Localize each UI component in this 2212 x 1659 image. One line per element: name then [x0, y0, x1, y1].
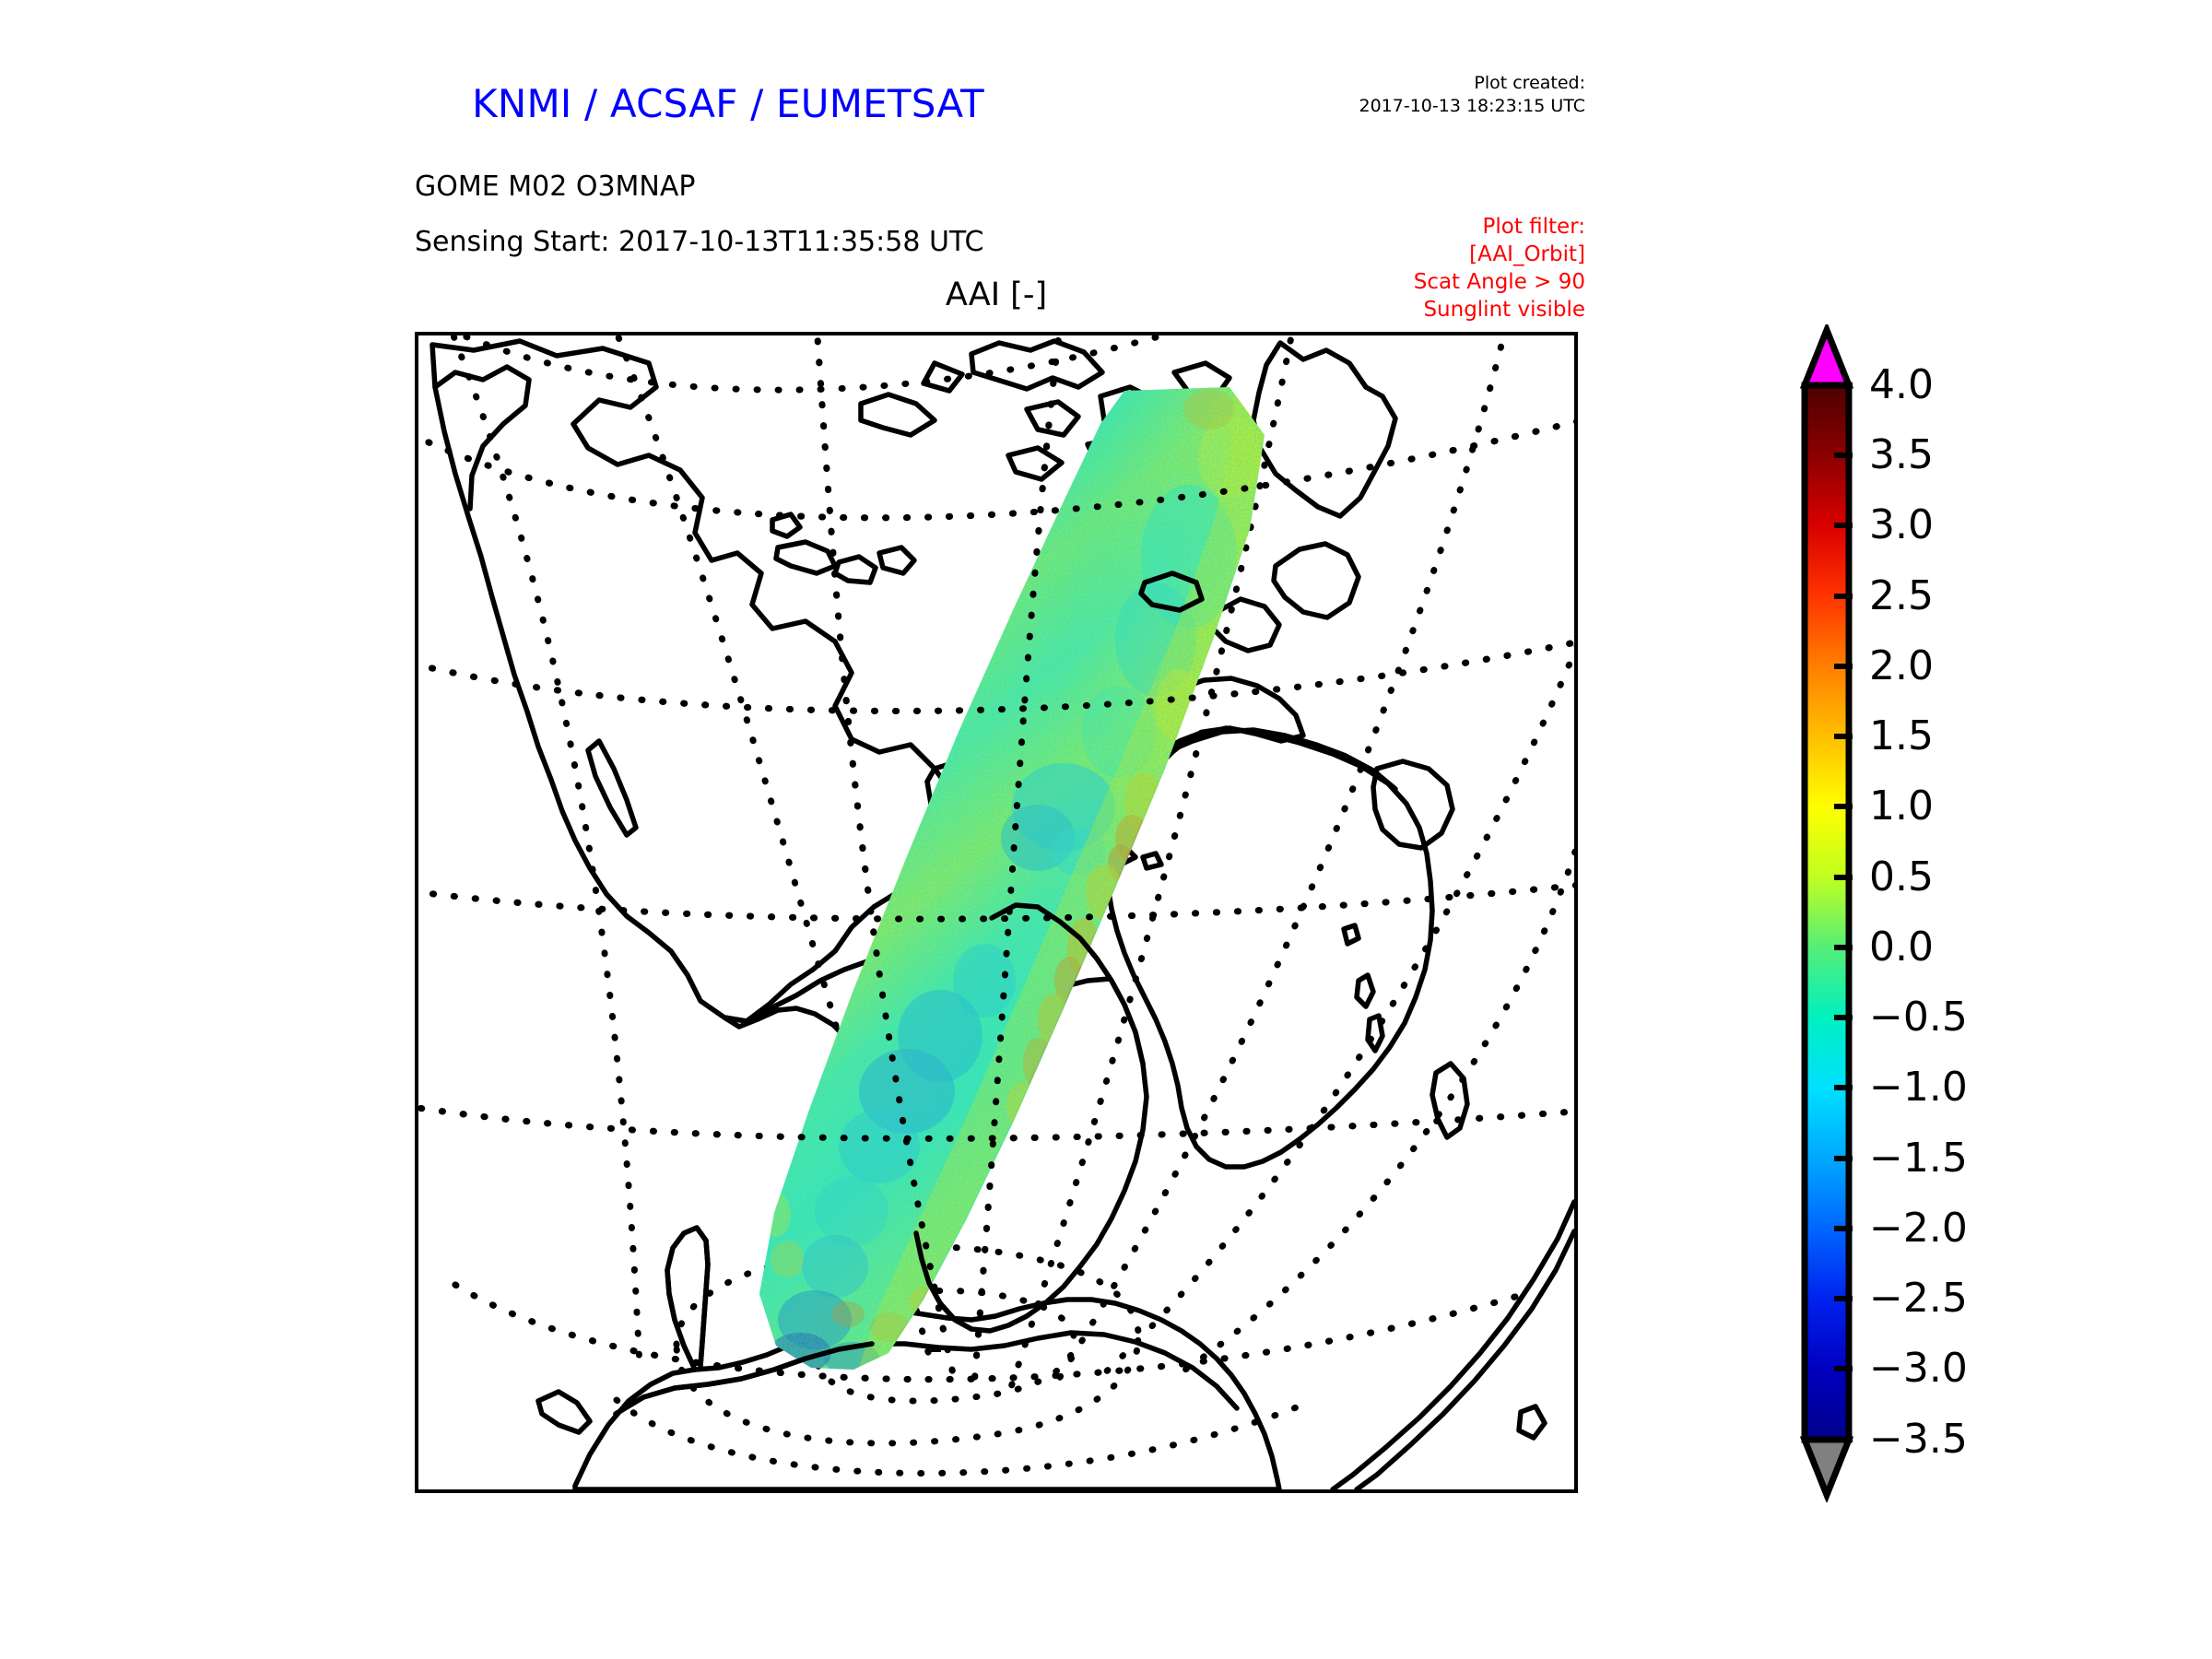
plot-filter-scat-angle: Scat Angle > 90: [1272, 269, 1585, 297]
colorbar-tick-label: −2.0: [1869, 1208, 1968, 1249]
colorbar-tick-label: 4.0: [1869, 365, 1934, 406]
colorbar-tick-label: −1.5: [1869, 1138, 1968, 1179]
colorbar-tick-label: 0.0: [1869, 927, 1934, 968]
map-plot-area: [415, 332, 1578, 1493]
colorbar-under-arrow: [1805, 1440, 1849, 1495]
plot-filter-block: Plot filter: [AAI_Orbit] Scat Angle > 90…: [1272, 214, 1585, 324]
colorbar: 4.0 3.5 3.0 2.5 2.0 1.5 1.0 0.5 0.0 −0.5…: [1799, 324, 2186, 1502]
colorbar-tick-label: 1.0: [1869, 786, 1934, 827]
colorbar-tick-label: −2.5: [1869, 1278, 1968, 1319]
plot-filter-name: [AAI_Orbit]: [1272, 241, 1585, 269]
orthographic-map: [418, 335, 1574, 1489]
pole-marker: [931, 1347, 941, 1352]
colorbar-tick-label: 2.0: [1869, 646, 1934, 687]
colorbar-svg: [1799, 324, 2186, 1502]
plot-filter-label: Plot filter:: [1272, 214, 1585, 241]
colorbar-over-arrow: [1805, 330, 1849, 385]
colorbar-tick-label: 0.5: [1869, 857, 1934, 898]
plot-created-label: Plot created:: [1198, 72, 1585, 95]
plot-filter-sunglint: Sunglint visible: [1272, 297, 1585, 324]
colorbar-gradient: [1805, 385, 1849, 1440]
page-title: KNMI / ACSAF / EUMETSAT: [415, 81, 1041, 126]
sensing-start-label: Sensing Start: 2017-10-13T11:35:58 UTC: [415, 226, 983, 258]
colorbar-tick-label: 1.5: [1869, 716, 1934, 757]
colorbar-tick-label: 3.0: [1869, 505, 1934, 546]
satellite-swath: [732, 372, 1303, 1395]
colorbar-tick-label: −3.0: [1869, 1348, 1968, 1389]
colorbar-tick-label: −1.0: [1869, 1067, 1968, 1108]
colorbar-tick-label: 2.5: [1869, 576, 1934, 617]
colorbar-tick-label: −0.5: [1869, 997, 1968, 1038]
colorbar-tick-label: 3.5: [1869, 435, 1934, 476]
plot-created-block: Plot created: 2017-10-13 18:23:15 UTC: [1198, 72, 1585, 118]
instrument-label: GOME M02 O3MNAP: [415, 171, 695, 203]
plot-created-value: 2017-10-13 18:23:15 UTC: [1198, 95, 1585, 118]
colorbar-tick-label: −3.5: [1869, 1419, 1968, 1460]
